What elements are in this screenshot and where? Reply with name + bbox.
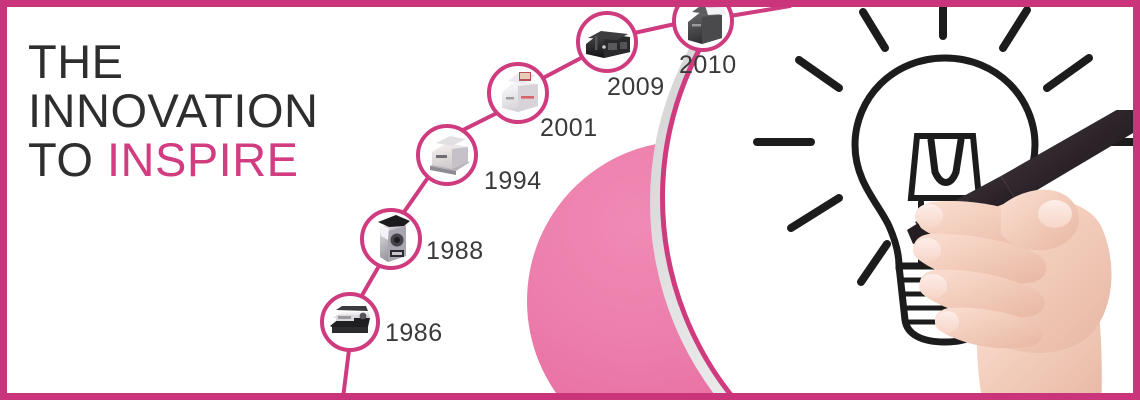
milestone-2009[interactable] bbox=[578, 13, 636, 71]
milestone-2001[interactable] bbox=[489, 64, 547, 122]
index-nail bbox=[915, 204, 943, 228]
milestone-2010[interactable] bbox=[674, 0, 732, 50]
headline: THE INNOVATION TO INSPIRE bbox=[28, 38, 319, 185]
innovation-banner: THE INNOVATION TO INSPIRE 1986 1988 1994… bbox=[0, 0, 1140, 400]
hand-with-marker bbox=[905, 110, 1140, 400]
year-label-2010: 2010 bbox=[679, 51, 737, 80]
headline-line-3: TO INSPIRE bbox=[28, 136, 319, 185]
year-label-1994: 1994 bbox=[484, 167, 542, 196]
headline-line-2: INNOVATION bbox=[28, 87, 319, 136]
year-label-1986: 1986 bbox=[385, 319, 443, 348]
little-nail bbox=[935, 311, 959, 333]
year-label-2009: 2009 bbox=[607, 73, 665, 102]
year-label-2001: 2001 bbox=[540, 114, 598, 143]
year-label-1988: 1988 bbox=[426, 237, 484, 266]
ring-nail bbox=[919, 274, 947, 298]
thumb-nail bbox=[1038, 200, 1072, 228]
milestone-1986[interactable] bbox=[322, 294, 378, 350]
product-image-1988 bbox=[378, 215, 410, 262]
headline-line-1: THE bbox=[28, 38, 319, 87]
headline-line-3-accent: INSPIRE bbox=[107, 133, 299, 186]
milestone-1988[interactable] bbox=[362, 210, 420, 268]
headline-line-3-plain: TO bbox=[28, 133, 107, 186]
middle-nail bbox=[913, 238, 941, 262]
milestone-1994[interactable] bbox=[418, 126, 476, 184]
